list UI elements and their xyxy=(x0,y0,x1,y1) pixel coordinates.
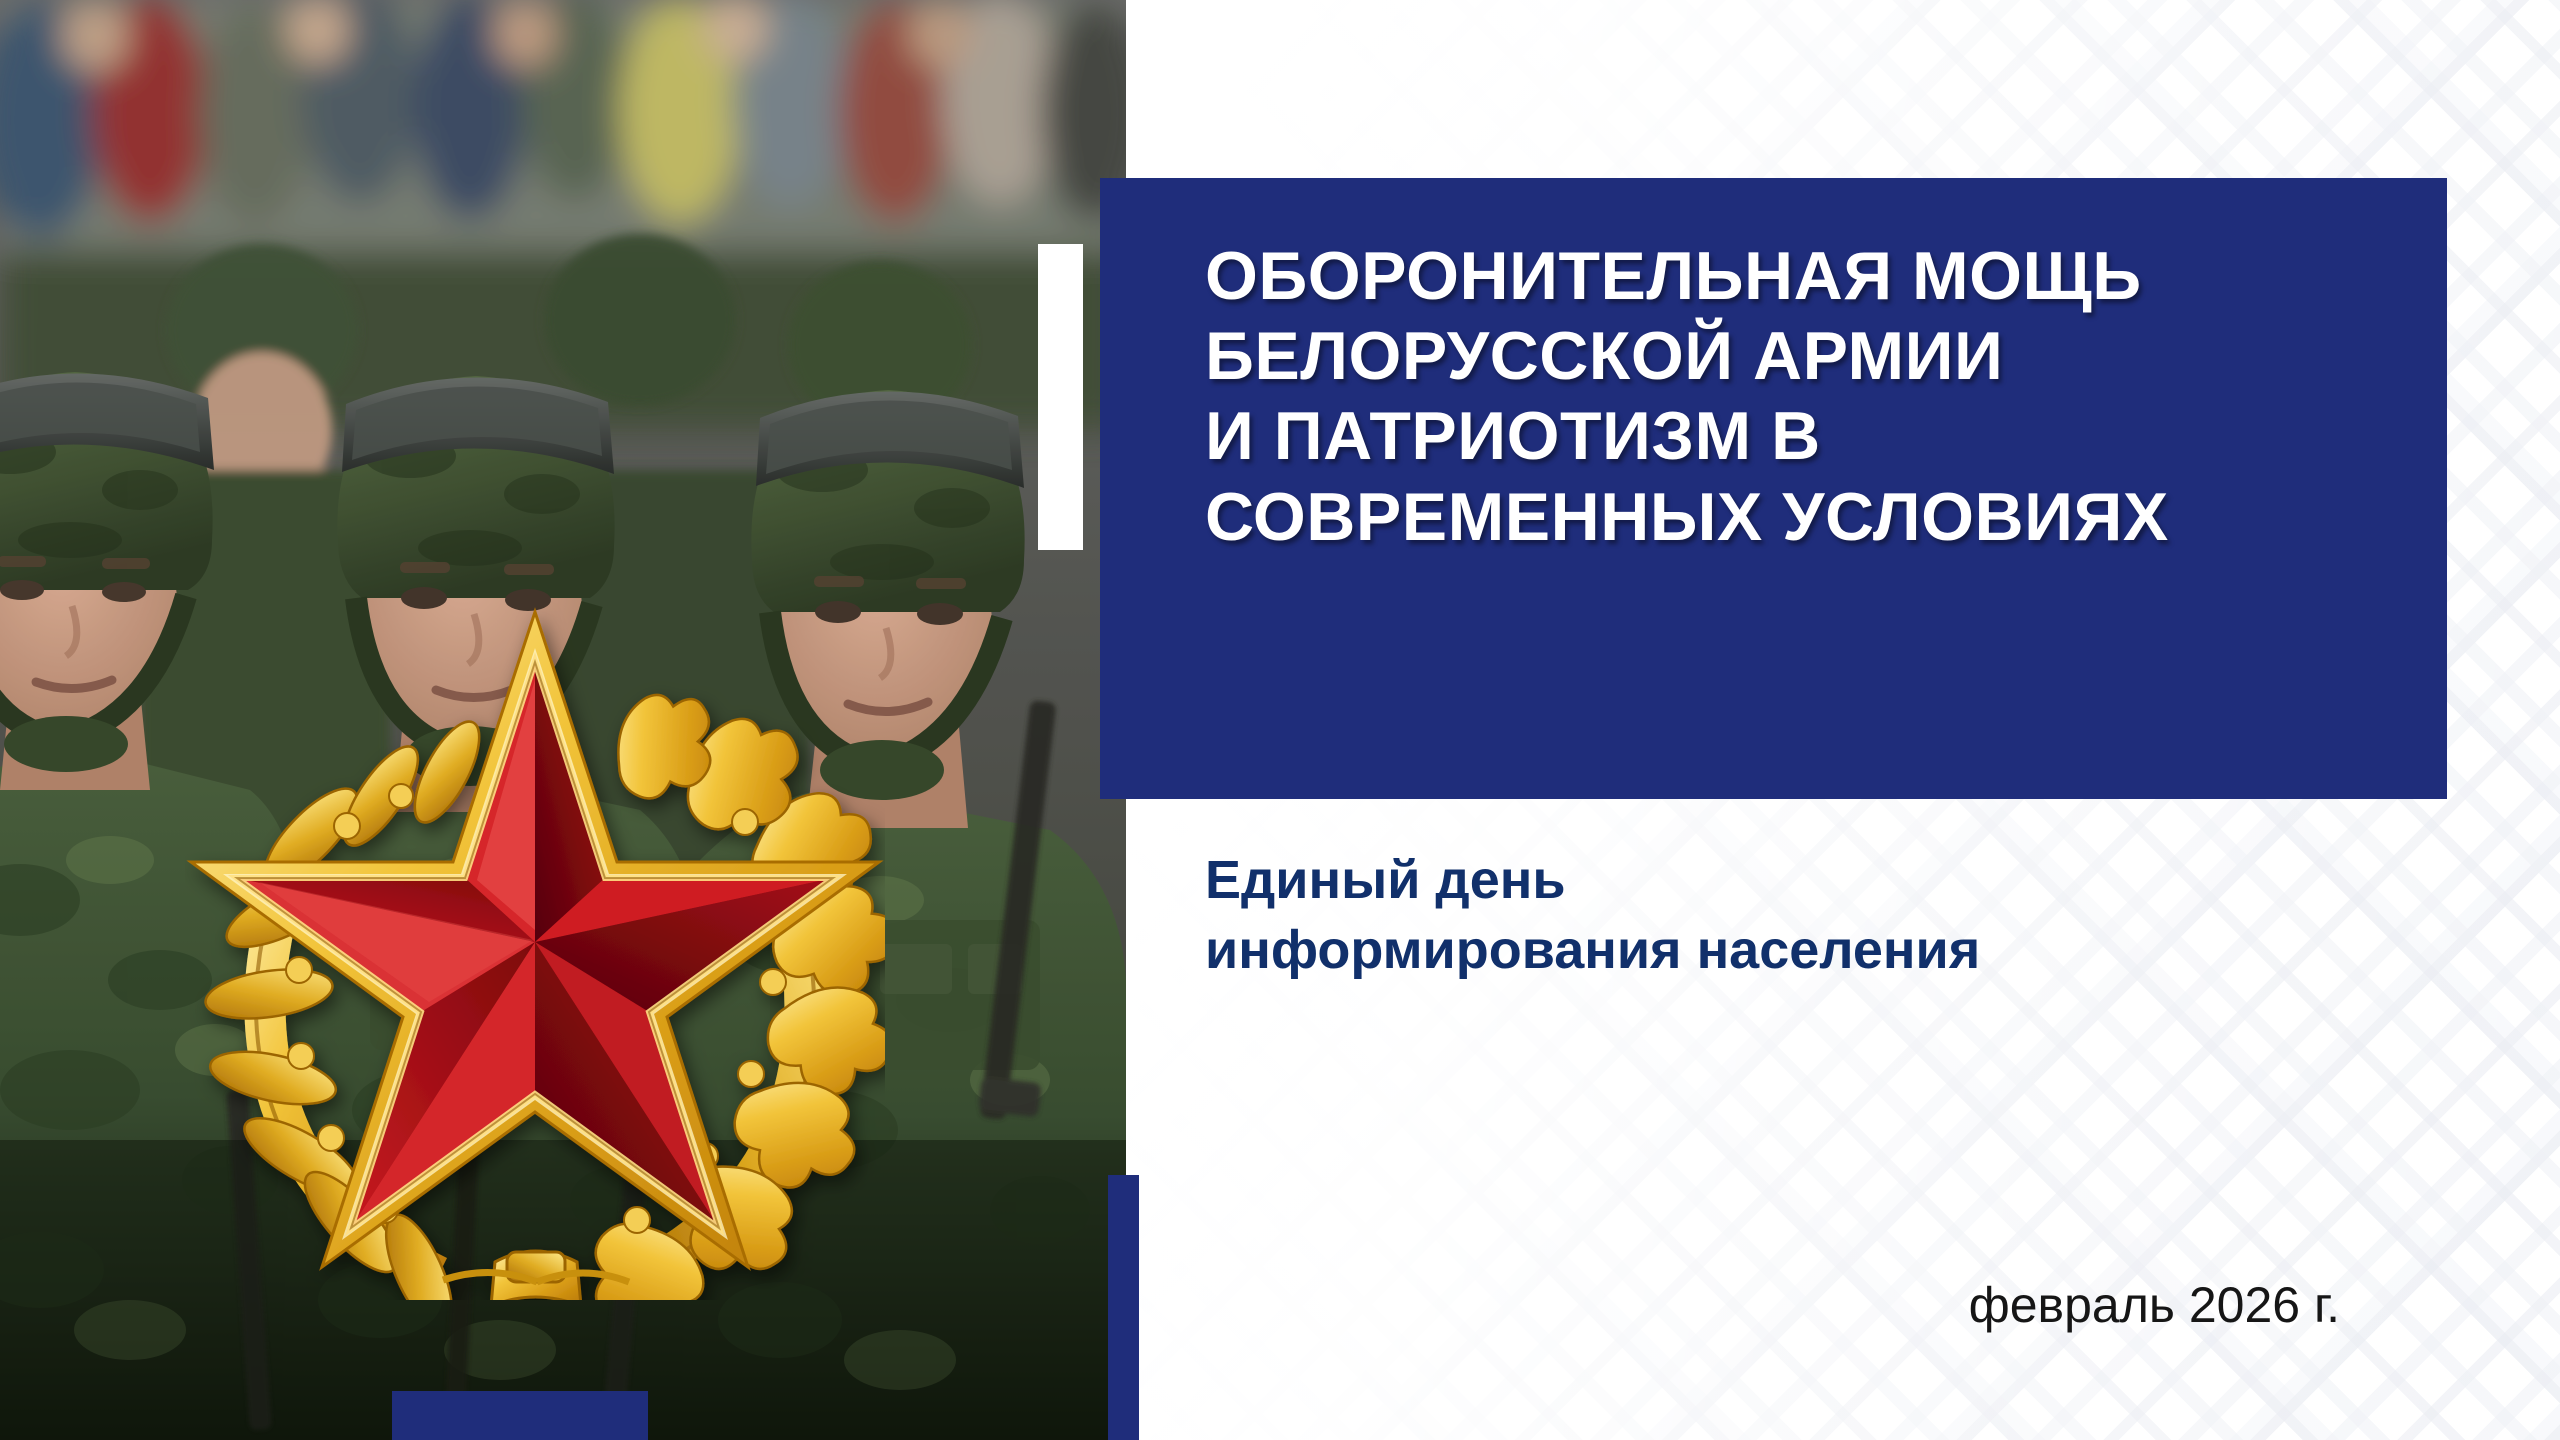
subtitle-line-2: информирования населения xyxy=(1205,915,2385,985)
title-line-1: ОБОРОНИТЕЛЬНАЯ МОЩЬ xyxy=(1205,236,2420,316)
belarus-armed-forces-emblem xyxy=(185,590,885,1300)
title-line-2: БЕЛОРУССКОЙ АРМИИ xyxy=(1205,316,2420,396)
blue-vertical-edge-strip xyxy=(1108,1175,1139,1440)
blue-accent-rectangle xyxy=(392,1391,648,1440)
white-accent-bar xyxy=(1038,244,1083,550)
subtitle-line-1: Единый день xyxy=(1205,845,2385,915)
date-label: февраль 2026 г. xyxy=(1205,1276,2340,1334)
title-line-4: СОВРЕМЕННЫХ УСЛОВИЯХ xyxy=(1205,477,2420,557)
title-line-3: И ПАТРИОТИЗМ В xyxy=(1205,396,2420,476)
presentation-slide: ОБОРОНИТЕЛЬНАЯ МОЩЬ БЕЛОРУССКОЙ АРМИИ И … xyxy=(0,0,2560,1440)
subtitle: Единый день информирования населения xyxy=(1205,845,2385,985)
page-title: ОБОРОНИТЕЛЬНАЯ МОЩЬ БЕЛОРУССКОЙ АРМИИ И … xyxy=(1205,236,2420,557)
